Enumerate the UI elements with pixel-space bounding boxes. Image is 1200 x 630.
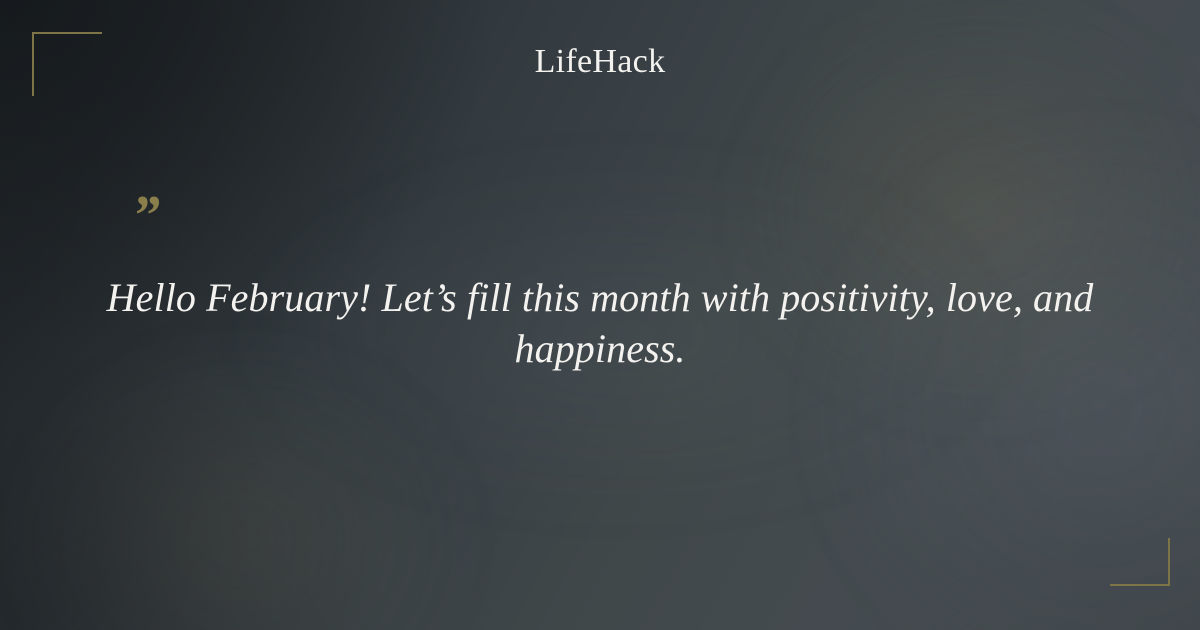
quote-card-canvas: LifeHack ” Hello February! Let’s fill th…	[0, 0, 1200, 630]
quote-block: ” Hello February! Let’s fill this month …	[100, 196, 1100, 374]
quotation-mark-icon: ”	[132, 196, 1100, 238]
brand-logo: LifeHack	[0, 41, 1200, 83]
quote-text: Hello February! Let’s fill this month wi…	[100, 272, 1100, 374]
